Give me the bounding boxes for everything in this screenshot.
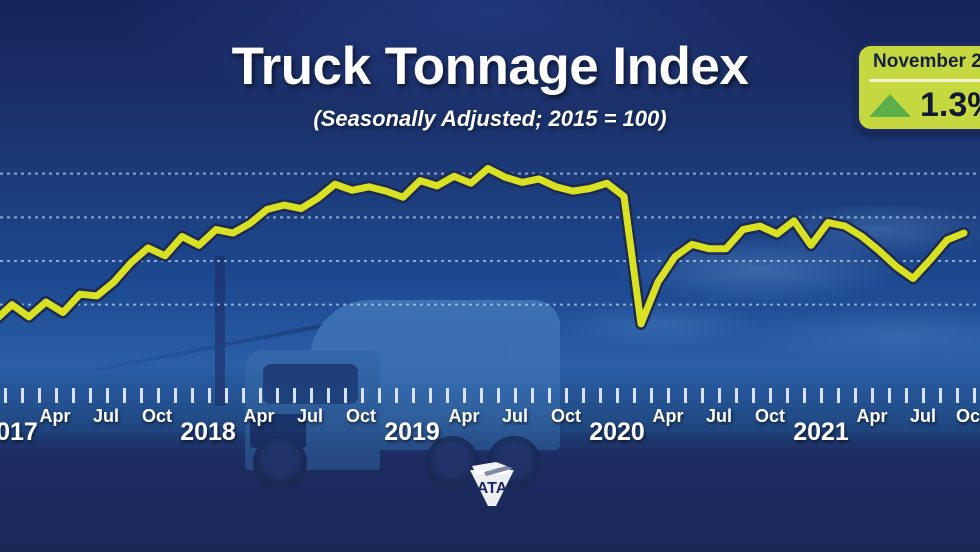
x-axis-year-label: 2020: [589, 418, 645, 447]
x-axis-tick: [55, 388, 58, 403]
x-axis-tick: [344, 388, 347, 403]
x-axis-tick: [4, 388, 7, 403]
truck-tonnage-infographic: Truck Tonnage Index (Seasonally Adjusted…: [0, 0, 980, 552]
x-axis-tick: [633, 388, 636, 403]
x-axis-tick: [89, 388, 92, 403]
x-axis-tick: [72, 388, 75, 403]
svg-text:ATA: ATA: [477, 480, 508, 497]
x-axis-month-label: Jul: [502, 406, 528, 427]
x-axis-tick: [429, 388, 432, 403]
chart-plot-area: [0, 130, 980, 392]
x-axis-month-label: Apr: [40, 406, 71, 427]
triangle-up-icon: [869, 94, 911, 117]
x-axis-tick: [854, 388, 857, 403]
x-axis-tick: [531, 388, 534, 403]
x-axis-tick: [38, 388, 41, 403]
x-axis-month-label: Apr: [244, 406, 275, 427]
x-axis-tick: [191, 388, 194, 403]
x-axis-tick: [514, 388, 517, 403]
x-axis-tick: [412, 388, 415, 403]
x-axis-labels: 2017AprJulOct2018AprJulOct2019AprJulOct2…: [0, 406, 980, 452]
x-axis-tick: [956, 388, 959, 403]
x-axis-tick: [905, 388, 908, 403]
x-axis-tick: [922, 388, 925, 403]
x-axis-month-label: Oct: [551, 406, 581, 427]
x-axis-year-label: 2021: [793, 418, 849, 447]
x-axis-tick: [446, 388, 449, 403]
x-axis-month-label: Jul: [706, 406, 732, 427]
badge-value-row: 1.3%: [869, 86, 980, 125]
x-axis-tick: [871, 388, 874, 403]
series-outline: [0, 168, 964, 323]
x-axis-tick: [123, 388, 126, 403]
tonnage-line-chart: [0, 130, 980, 392]
x-axis-tick: [752, 388, 755, 403]
x-axis-tick: [701, 388, 704, 403]
x-axis-tick: [650, 388, 653, 403]
x-axis-tick: [259, 388, 262, 403]
x-axis-tick: [293, 388, 296, 403]
x-axis-tick: [684, 388, 687, 403]
x-axis-tick: [939, 388, 942, 403]
x-axis-month-label: Apr: [857, 406, 888, 427]
x-axis-tick: [837, 388, 840, 403]
x-axis-tick: [565, 388, 568, 403]
x-axis-tick: [395, 388, 398, 403]
x-axis-tick: [480, 388, 483, 403]
x-axis-tick: [378, 388, 381, 403]
badge-month-label: November 2021: [873, 51, 980, 73]
latest-reading-badge: November 2021 1.3%: [855, 42, 980, 133]
x-axis-tick: [174, 388, 177, 403]
x-axis-tick: [242, 388, 245, 403]
x-axis-tick: [599, 388, 602, 403]
x-axis-month-label: Oct: [142, 406, 172, 427]
x-axis-tick: [310, 388, 313, 403]
x-axis-tick: [803, 388, 806, 403]
x-axis-tick: [276, 388, 279, 403]
x-axis-month-label: Apr: [653, 406, 684, 427]
x-axis-tick: [327, 388, 330, 403]
page-subtitle: (Seasonally Adjusted; 2015 = 100): [0, 106, 980, 132]
x-axis-month-label: Oct: [755, 406, 785, 427]
ata-logo-mark: ATA: [466, 460, 518, 510]
x-axis-month-label: Oct: [956, 406, 980, 427]
x-axis-tick: [735, 388, 738, 403]
x-axis-tick: [582, 388, 585, 403]
x-axis-tick: [497, 388, 500, 403]
x-axis-ticks: [0, 388, 980, 404]
x-axis-tick: [973, 388, 976, 403]
badge-divider: [869, 79, 980, 82]
x-axis-tick: [888, 388, 891, 403]
x-axis-month-label: Jul: [910, 406, 936, 427]
x-axis-tick: [616, 388, 619, 403]
x-axis-year-label: 2017: [0, 418, 38, 447]
x-axis-month-label: Jul: [93, 406, 119, 427]
x-axis-tick: [769, 388, 772, 403]
x-axis-tick: [718, 388, 721, 403]
x-axis-tick: [786, 388, 789, 403]
x-axis-tick: [548, 388, 551, 403]
x-axis-tick: [140, 388, 143, 403]
x-axis: 2017AprJulOct2018AprJulOct2019AprJulOct2…: [0, 388, 980, 452]
badge-change-value: 1.3%: [920, 86, 980, 125]
x-axis-tick: [106, 388, 109, 403]
x-axis-month-label: Apr: [449, 406, 480, 427]
page-title: Truck Tonnage Index: [0, 36, 980, 97]
x-axis-tick: [820, 388, 823, 403]
x-axis-tick: [667, 388, 670, 403]
x-axis-tick: [361, 388, 364, 403]
x-axis-tick: [225, 388, 228, 403]
x-axis-tick: [21, 388, 24, 403]
x-axis-tick: [208, 388, 211, 403]
x-axis-tick: [157, 388, 160, 403]
ata-logo: ATA: [466, 460, 518, 510]
x-axis-year-label: 2019: [384, 418, 440, 447]
x-axis-month-label: Oct: [346, 406, 376, 427]
chart-gridlines: [0, 174, 980, 305]
x-axis-year-label: 2018: [180, 418, 236, 447]
x-axis-month-label: Jul: [297, 406, 323, 427]
x-axis-tick: [463, 388, 466, 403]
